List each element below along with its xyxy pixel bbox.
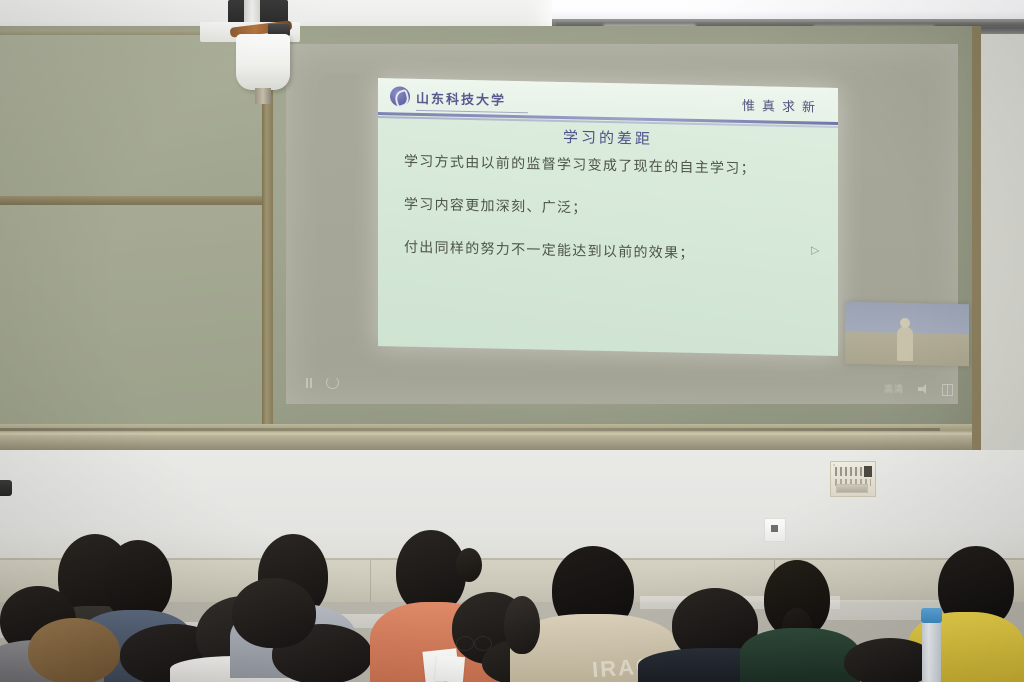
university-motto: 惟真求新: [742, 95, 822, 116]
blackboard-frame-horizontal: [0, 196, 264, 205]
quality-label[interactable]: 高清: [884, 382, 904, 395]
ceiling-projector: [236, 34, 290, 90]
panel-screw: [833, 464, 835, 466]
fullscreen-icon[interactable]: [942, 384, 953, 394]
projector-pole: [255, 88, 271, 104]
slide-body: 学习方式由以前的监督学习变成了现在的自主学习； 学习内容更加深刻、广泛； 付出同…: [404, 151, 822, 289]
student-head-light-hair: [28, 618, 120, 682]
blackboard-panel-upper-left: [0, 35, 262, 196]
player-controls-right: 高清: [884, 382, 953, 395]
paper-sheet: [435, 655, 465, 682]
presentation-slide: 山东科技大学 惟真求新 学习的差距 学习方式由以前的监督学习变成了现在的自主学习…: [378, 78, 838, 356]
pause-icon[interactable]: [305, 378, 313, 388]
student-head: [504, 596, 540, 654]
picture-in-picture-video[interactable]: [845, 302, 969, 367]
fluorescent-tube-light: [552, 0, 1024, 24]
tile-seam: [370, 560, 371, 602]
refresh-icon[interactable]: [326, 376, 339, 389]
panel-display: [864, 466, 872, 477]
mouse-cursor-icon: ▷: [811, 243, 820, 254]
speaker-icon[interactable]: [918, 384, 928, 394]
university-logo-icon: [390, 86, 410, 106]
classroom-scene: 山东科技大学 惟真求新 学习的差距 学习方式由以前的监督学习变成了现在的自主学习…: [0, 0, 1024, 682]
av-panel-slot: [836, 484, 868, 493]
chalk-ledge-groove: [0, 428, 940, 431]
pip-speaker-figure: [897, 327, 913, 361]
student-head: [232, 578, 316, 648]
slide-bullet-3: 付出同样的努力不一定能达到以前的效果；: [404, 237, 822, 266]
glasses-icon: [456, 636, 474, 651]
university-name: 山东科技大学: [416, 88, 506, 109]
slide-bullet-2: 学习内容更加深刻、广泛；: [404, 194, 822, 223]
player-controls-left: [305, 376, 339, 389]
chalk-ledge-lip: [0, 436, 972, 450]
wall-switch[interactable]: [764, 518, 786, 542]
student-ponytail: [456, 548, 482, 582]
blackboard-panel-lower-left: [0, 205, 262, 450]
student-body-green: [740, 628, 860, 682]
wall-socket-left[interactable]: [0, 480, 12, 496]
water-bottle-cap: [921, 608, 942, 623]
slide-title: 学习的差距: [378, 122, 838, 153]
slide-bullet-1: 学习方式由以前的监督学习变成了现在的自主学习；: [404, 151, 822, 180]
